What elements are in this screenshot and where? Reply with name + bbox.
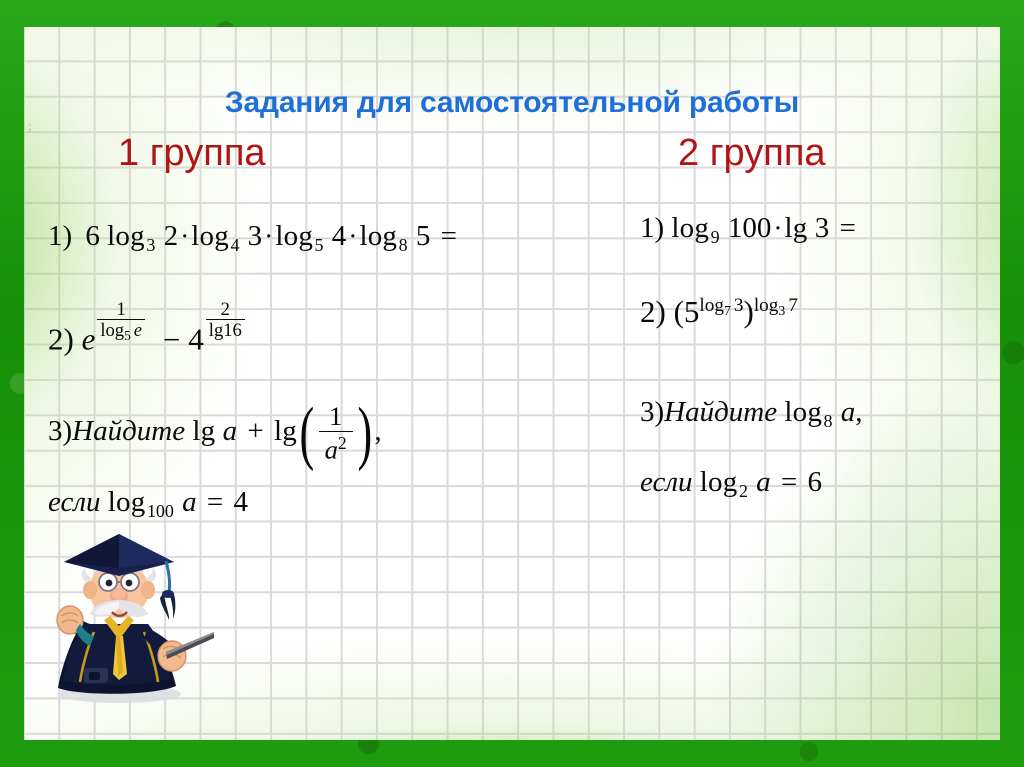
log-name: log [107, 220, 145, 252]
log-argument: 3 [248, 220, 263, 252]
task-number: 2) [640, 294, 666, 329]
instruction-word: Найдите [72, 415, 185, 447]
inner-exponent: log73 [699, 295, 743, 316]
fraction: 1a2 [317, 402, 355, 464]
log-name: log [100, 320, 124, 341]
group2-task-1: 1) log9 100·lg 3 = [640, 214, 859, 246]
variable-a: a [182, 486, 197, 518]
base-5: 5 [684, 294, 700, 329]
log-argument: e [131, 320, 142, 341]
variable-a: a [756, 466, 771, 498]
log-argument: 7 [785, 295, 798, 316]
comma: , [374, 415, 381, 447]
group1-task-3: 3)Найдите lg a + lg(1a2), [48, 402, 382, 464]
base-4: 4 [188, 322, 204, 357]
lg-argument: 3 [815, 212, 830, 244]
minus-sign: − [155, 322, 188, 357]
task-number: 3) [640, 396, 664, 428]
variable-a: a [223, 415, 238, 447]
page-title: Задания для самостоятельной работы [0, 86, 1024, 120]
task-number: 1) [640, 212, 664, 244]
log-base: 7 [724, 304, 731, 319]
base-e: e [82, 322, 96, 357]
multiply-dot: · [262, 220, 275, 251]
fraction-numerator: 1 [97, 300, 145, 319]
variable-a: a [325, 435, 338, 465]
log-argument: 100 [728, 212, 772, 244]
multiply-dot: · [771, 212, 784, 243]
log-name: log [359, 220, 397, 252]
slide: ; Задания для самостоятельной работы 1 г… [0, 0, 1024, 767]
exponent-fraction: 1log5e [95, 300, 147, 343]
log-base: 3 [145, 235, 156, 255]
coefficient: 6 [85, 220, 100, 252]
exponent: 2 [338, 433, 347, 453]
equals-sign: = [778, 466, 800, 498]
log-base: 9 [709, 227, 720, 247]
group1-task-3-condition: если log100 a = 4 [48, 488, 248, 520]
exponent-fraction: 2lg16 [204, 300, 247, 341]
log-name: log [700, 466, 738, 498]
log-base: 100 [145, 501, 174, 521]
log-name: log [275, 220, 313, 252]
log-name: log [784, 396, 822, 428]
value: 4 [234, 486, 249, 518]
log-name: log [108, 486, 146, 518]
log-name: log [671, 212, 709, 244]
multiply-dot: · [346, 220, 359, 251]
log-base: 4 [229, 235, 240, 255]
group2-task-2: 2) (5log73)log37 [640, 296, 798, 327]
fraction-numerator: 2 [206, 300, 245, 319]
group1-task-2: 2) e1log5e −42lg16 [48, 300, 247, 355]
value: 6 [808, 466, 823, 498]
variable-a: a [841, 396, 856, 428]
equals-sign: = [836, 212, 858, 244]
fraction-denominator: a2 [319, 431, 353, 464]
professor-cartoon-illustration [24, 528, 214, 718]
paren-open: ( [674, 294, 684, 329]
fraction-denominator: log5e [97, 319, 145, 343]
log-name: log [699, 295, 724, 316]
instruction-word: Найдите [664, 396, 777, 428]
lg-name: lg [274, 415, 297, 447]
log-base: 5 [313, 235, 324, 255]
condition-word: если [640, 466, 693, 498]
log-argument: 4 [332, 220, 347, 252]
group1-task-1: 1) 6 log3 2·log4 3·log5 4·log8 5 = [48, 222, 460, 254]
condition-word: если [48, 486, 101, 518]
multiply-dot: · [178, 220, 191, 251]
log-base: 5 [124, 328, 131, 343]
log-argument: 5 [416, 220, 431, 252]
group-2-heading: 2 группа [678, 132, 826, 175]
log-argument: 2 [164, 220, 179, 252]
log-base: 8 [822, 411, 833, 431]
task-number: 1) [48, 220, 72, 252]
equals-sign: = [204, 486, 226, 518]
comma: , [855, 396, 862, 428]
fraction-numerator: 1 [319, 402, 353, 431]
plus-sign: + [244, 415, 266, 447]
log-name: log [191, 220, 229, 252]
group-1-heading: 1 группа [118, 132, 266, 175]
log-base: 2 [737, 481, 748, 501]
group2-task-3: 3)Найдите log8 a, [640, 398, 863, 430]
lg-name: lg [785, 212, 808, 244]
paren-close: ) [743, 294, 753, 329]
paren-close: ) [357, 414, 372, 453]
log-argument: 3 [731, 295, 744, 316]
lg-name: lg [192, 415, 215, 447]
scan-artifact-mark: ; [28, 119, 32, 132]
equals-sign: = [438, 220, 460, 252]
log-base: 8 [397, 235, 408, 255]
task-number: 2) [48, 322, 74, 357]
outer-exponent: log37 [754, 295, 798, 316]
log-name: log [754, 295, 779, 316]
group2-task-3-condition: если log2 a = 6 [640, 468, 822, 500]
fraction-denominator: lg16 [206, 319, 245, 340]
task-number: 3) [48, 415, 72, 447]
paren-open: ( [299, 414, 314, 453]
